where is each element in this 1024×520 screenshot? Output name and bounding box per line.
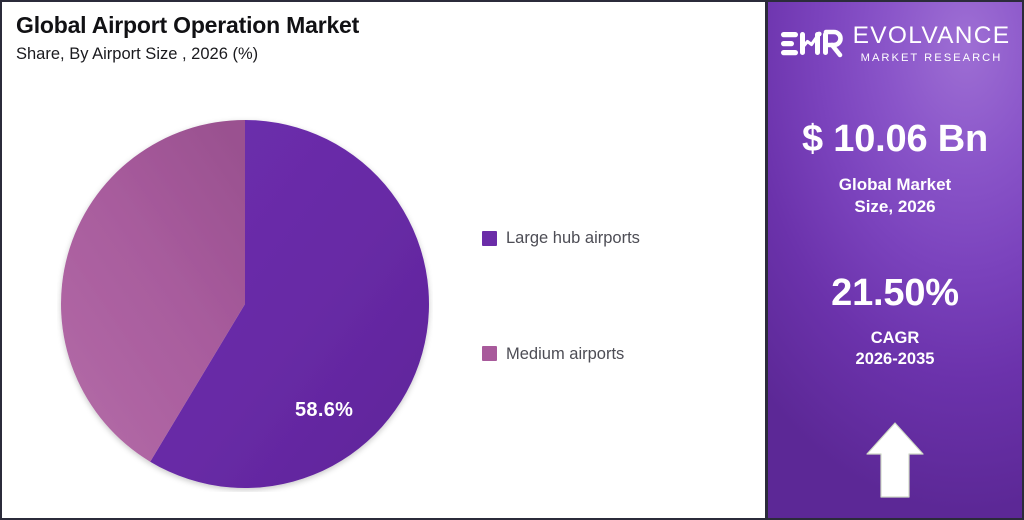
infographic-canvas: Global Airport Operation Market Share, B… — [0, 0, 1024, 520]
brand-tagline: MARKET RESEARCH — [861, 53, 1003, 64]
brand-text: EVOLVANCE MARKET RESEARCH — [853, 24, 1011, 64]
stat-caption-line2: 2026-2035 — [768, 349, 1022, 370]
brand-logo: EVOLVANCE MARKET RESEARCH — [768, 24, 1022, 64]
chart-pane: Global Airport Operation Market Share, B… — [2, 2, 765, 520]
page-title: Global Airport Operation Market — [16, 12, 616, 38]
brand-name: EVOLVANCE — [853, 24, 1011, 49]
page-subtitle: Share, By Airport Size , 2026 (%) — [16, 45, 616, 65]
stat-market-size: $ 10.06 Bn Global Market Size, 2026 — [768, 120, 1022, 218]
stat-caption-line2: Size, 2026 — [768, 196, 1022, 218]
legend-item-medium-airports[interactable]: Medium airports — [482, 346, 732, 363]
stat-value: 21.50% — [768, 274, 1022, 312]
title-block: Global Airport Operation Market Share, B… — [16, 12, 616, 65]
stat-caption-line1: Global Market — [768, 174, 1022, 196]
pie-chart: 58.6% — [57, 116, 433, 492]
stat-caption-line1: CAGR — [768, 328, 1022, 349]
legend-label: Large hub airports — [506, 230, 640, 247]
stats-side-panel: EVOLVANCE MARKET RESEARCH $ 10.06 Bn Glo… — [765, 2, 1022, 520]
arrow-up-icon — [864, 420, 926, 500]
chart-legend: Large hub airports Medium airports — [482, 230, 732, 362]
stat-value: $ 10.06 Bn — [768, 120, 1022, 158]
legend-label: Medium airports — [506, 346, 624, 363]
legend-swatch-icon — [482, 231, 497, 246]
stat-cagr: 21.50% CAGR 2026-2035 — [768, 274, 1022, 371]
pie-chart-svg — [57, 116, 433, 492]
legend-item-large-hub-airports[interactable]: Large hub airports — [482, 230, 732, 247]
pie-slice-label-large-hub-airports: 58.6% — [295, 399, 353, 422]
legend-swatch-icon — [482, 346, 497, 361]
stat-caption: CAGR 2026-2035 — [768, 328, 1022, 371]
stat-caption: Global Market Size, 2026 — [768, 174, 1022, 218]
emr-monogram-icon — [780, 24, 844, 64]
